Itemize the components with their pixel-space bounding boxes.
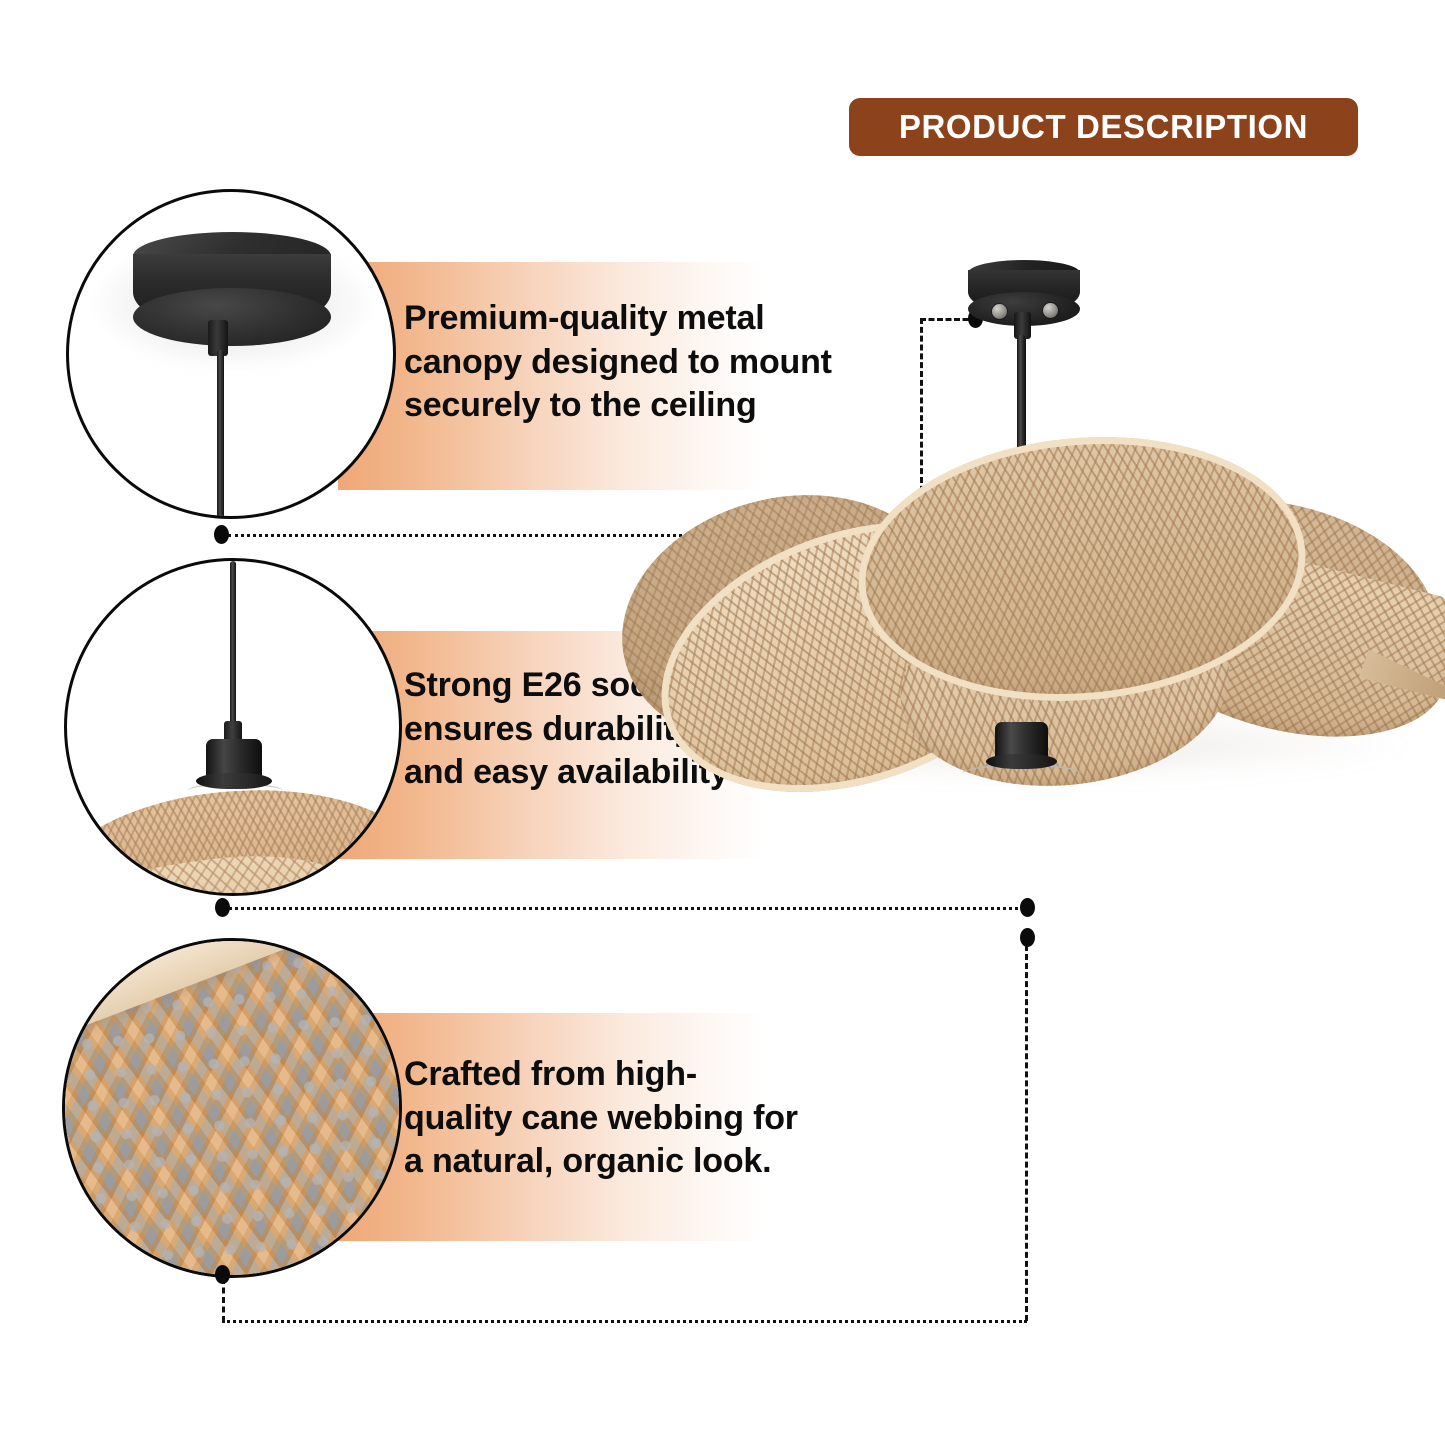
connector-webbing-vertical-left <box>222 1278 225 1322</box>
connector-node-canopy-start <box>214 525 229 544</box>
connector-webbing-horizontal <box>222 1320 1027 1323</box>
inset-webbing <box>62 938 402 1278</box>
product-description-badge: PRODUCT DESCRIPTION <box>849 98 1358 156</box>
infographic-canvas: PRODUCT DESCRIPTION Premium-quality meta… <box>0 0 1445 1445</box>
canopy-screw-right <box>1043 303 1058 318</box>
rattan-pendant-light <box>600 240 1445 1040</box>
inset-canopy <box>66 189 396 519</box>
e26-socket-closeup <box>67 561 399 893</box>
feature-text-webbing: Crafted from high- quality cane webbing … <box>404 1053 874 1184</box>
canopy-cord <box>217 350 224 519</box>
inset-socket <box>64 558 402 896</box>
socket-collar <box>196 773 272 789</box>
connector-node-socket-start <box>215 898 230 917</box>
badge-label: PRODUCT DESCRIPTION <box>899 108 1308 146</box>
socket-collar <box>986 754 1057 769</box>
canopy-screw-left <box>992 304 1007 319</box>
canopy-underside <box>133 288 331 346</box>
cane-webbing-closeup <box>65 941 399 1275</box>
metal-canopy-closeup <box>69 192 393 516</box>
socket-cord <box>230 561 236 729</box>
